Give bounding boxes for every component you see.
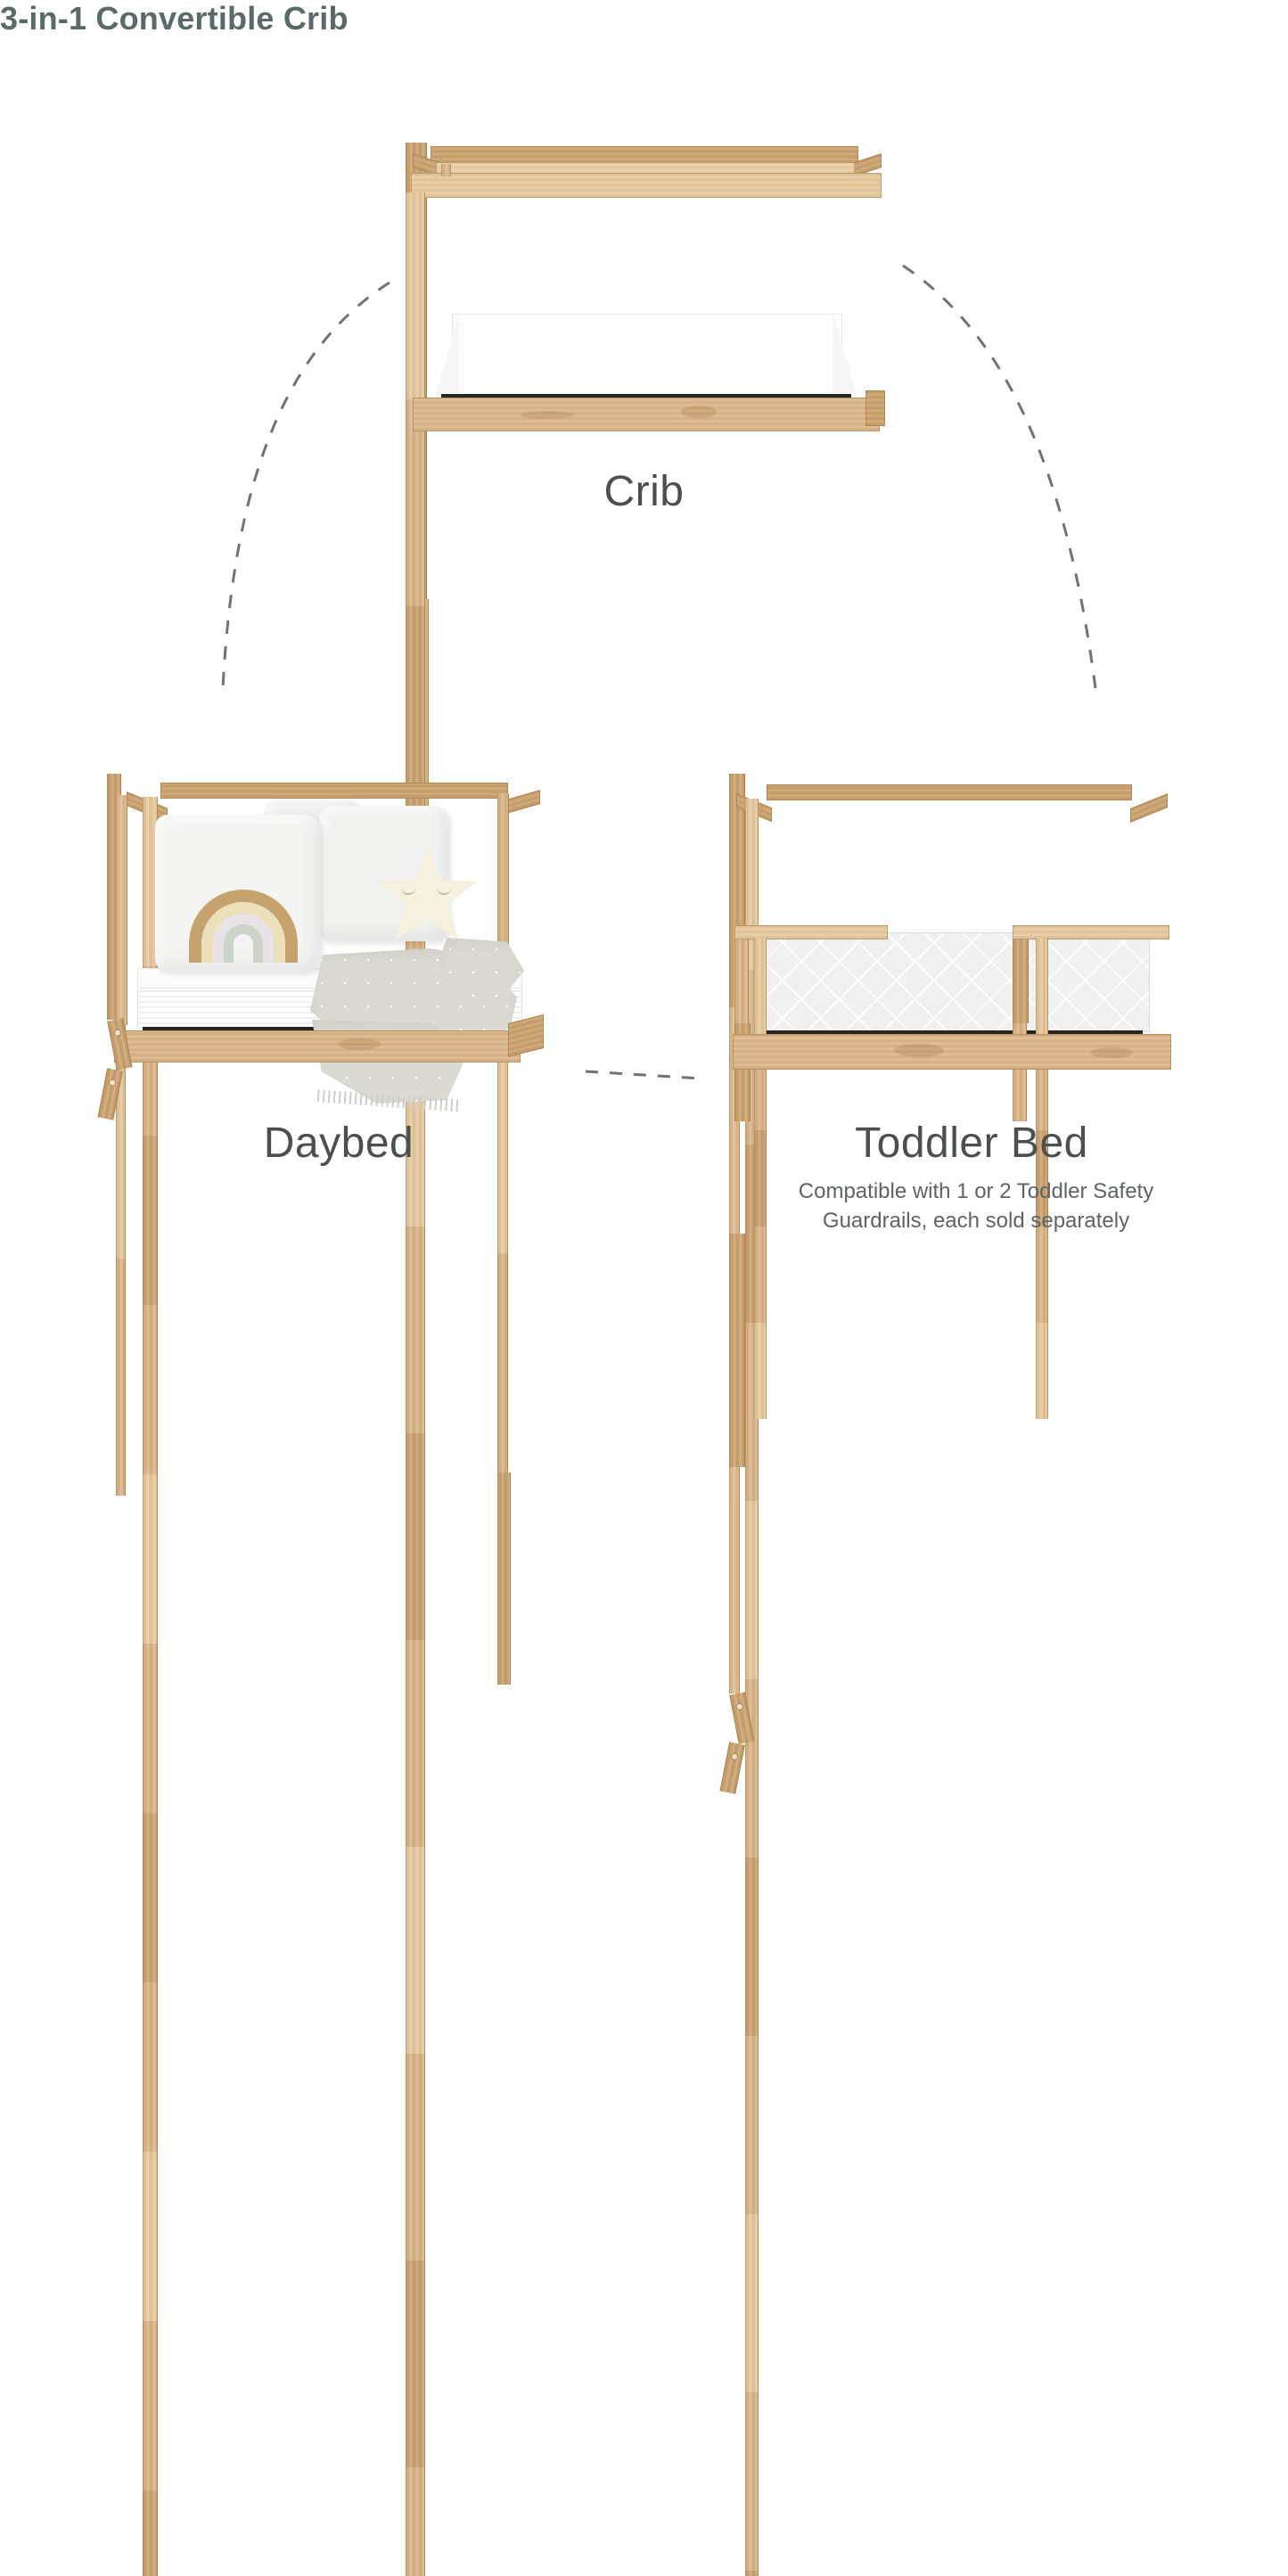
- toddler-base-rail: [733, 1034, 1171, 1070]
- daybed-illustration: [107, 774, 553, 1103]
- star-eye-right: [437, 886, 451, 895]
- toddler-leg-right: [719, 1742, 744, 1793]
- crib-back-top-rail: [431, 146, 858, 164]
- toddler-guardrail-right: [1013, 925, 1169, 1034]
- crib-label: Crib: [0, 467, 1288, 516]
- daybed-base-rail: [114, 1030, 521, 1062]
- toddler-subtitle-line2: Guardrails, each sold separately: [823, 1209, 1129, 1233]
- crib-back-slats-group: [441, 164, 853, 176]
- crib-base-rail: [413, 398, 880, 431]
- star-eye-left: [401, 886, 415, 895]
- star-pillow-face: [374, 847, 480, 947]
- guardrail-left-post-outer: [734, 925, 749, 1023]
- infographic-canvas: Crib 3-in-1 Convertible Crib: [0, 0, 1288, 1288]
- rainbow-band-4: [224, 924, 263, 963]
- guardrail-left-slats: [754, 938, 868, 1034]
- toddler-bed-subtitle: Compatible with 1 or 2 Toddler Safety Gu…: [713, 1177, 1239, 1235]
- toddler-bed-illustration: [729, 774, 1175, 1103]
- toddler-right-side-panel: [729, 1467, 740, 1694]
- toddler-subtitle-line1: Compatible with 1 or 2 Toddler Safety: [799, 1179, 1153, 1203]
- guardrail-right-slats: [1036, 938, 1150, 1034]
- guardrail-right-post-inner: [1013, 925, 1029, 1023]
- crib-front-slats-group: [406, 193, 887, 399]
- crib-illustration: [406, 143, 887, 450]
- page-title: 3-in-1 Convertible Crib: [0, 0, 1288, 37]
- dashed-line-daybed-to-toddler: [586, 1071, 701, 1079]
- daybed-label: Daybed: [53, 1119, 624, 1168]
- toddler-bed-label: Toddler Bed: [677, 1119, 1266, 1168]
- toddler-right-corner-post: [729, 1234, 745, 1467]
- toddler-guardrail-left: [734, 925, 888, 1034]
- crib-base-rail-right-return: [866, 390, 885, 426]
- rainbow-pillow: [189, 890, 298, 963]
